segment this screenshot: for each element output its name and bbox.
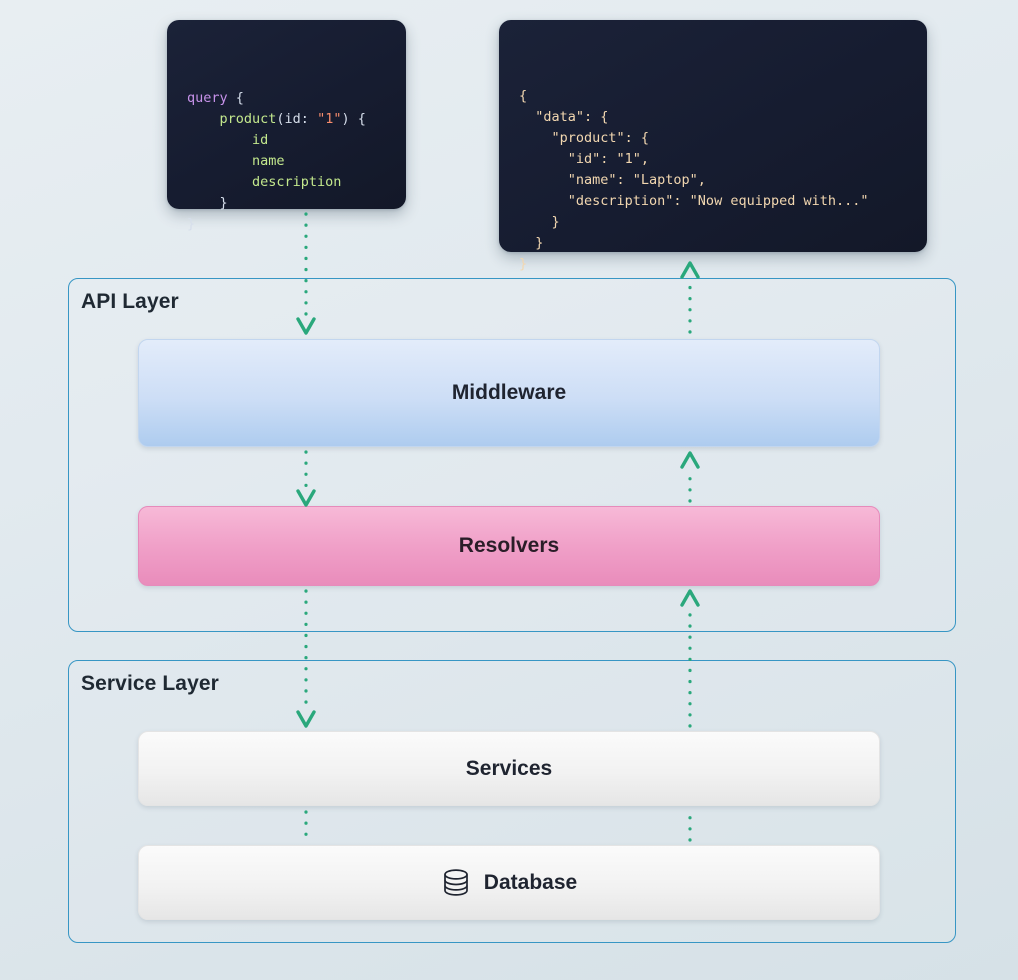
node-services-label: Services [466,757,552,781]
graphql-query-code: query { product(id: "1") { id name descr… [187,88,406,235]
node-middleware-label: Middleware [452,381,566,405]
api-layer-title: API Layer [81,290,179,314]
graphql-response-code: { "data": { "product": { "id": "1", "nam… [519,86,927,275]
service-layer-title: Service Layer [81,672,219,696]
node-database-label: Database [484,871,577,895]
graphql-query-panel: query { product(id: "1") { id name descr… [167,20,406,209]
database-icon [441,867,471,899]
node-services[interactable]: Services [138,731,880,806]
node-database[interactable]: Database [138,845,880,920]
node-resolvers[interactable]: Resolvers [138,506,880,586]
graphql-response-panel: { "data": { "product": { "id": "1", "nam… [499,20,927,252]
node-middleware[interactable]: Middleware [138,339,880,447]
node-resolvers-label: Resolvers [459,534,559,558]
